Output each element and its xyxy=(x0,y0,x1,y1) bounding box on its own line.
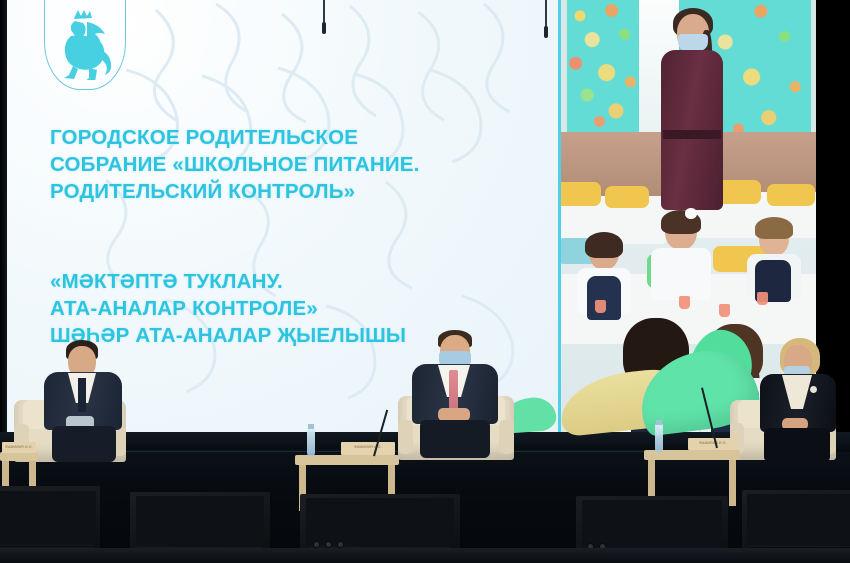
headline-russian: ГОРОДСКОЕ РОДИТЕЛЬСКОЕ СОБРАНИЕ «ШКОЛЬНО… xyxy=(50,124,530,205)
canteen-chair xyxy=(558,182,601,206)
name-card-left-text: ФАМИЛИЯ И.О. xyxy=(2,442,36,450)
juice-cup xyxy=(719,304,730,317)
canteen-supervisor xyxy=(657,8,727,238)
name-card-center-text: ФАМИЛИЯ И.О. xyxy=(341,442,395,450)
monitor-face xyxy=(136,496,265,546)
panelist-right-skirt xyxy=(764,428,830,462)
headline-ru-line-2: СОБРАНИЕ «ШКОЛЬНОЕ ПИТАНИЕ. xyxy=(50,151,530,178)
monitor-face xyxy=(747,494,850,545)
panelist-left xyxy=(38,340,126,462)
hanging-mic-capsule xyxy=(322,22,326,34)
panelist-left-tie-visible xyxy=(78,378,86,412)
juice-cup xyxy=(679,296,690,309)
monitor-knob[interactable] xyxy=(326,542,331,547)
juice-cup xyxy=(595,300,606,313)
water-bottle-center xyxy=(307,428,315,456)
panelist-right-lapel-pin xyxy=(810,386,817,393)
monitor-face xyxy=(306,498,453,546)
monitor-knob[interactable] xyxy=(314,542,319,547)
headline-tt-line-2: АТА-АНАЛАР КОНТРОЛЕ» xyxy=(50,295,540,322)
pupil-hair xyxy=(585,232,623,258)
kazan-coat-of-arms-icon xyxy=(44,0,126,90)
panelist-center-legs xyxy=(420,420,490,458)
bottle-cap xyxy=(656,420,662,425)
side-table-left xyxy=(0,452,38,461)
bottle-cap xyxy=(308,424,314,429)
monitor-face xyxy=(0,491,96,545)
pupil-hair xyxy=(755,217,793,239)
table-leg xyxy=(729,460,736,506)
panelist-left-legs xyxy=(52,426,116,462)
zilant-dragon-icon xyxy=(53,8,117,80)
panelist-center xyxy=(404,330,504,458)
headline-ru-line-3: РОДИТЕЛЬСКИЙ КОНТРОЛЬ» xyxy=(50,178,530,205)
canteen-chair xyxy=(605,186,649,208)
stage-front-rail xyxy=(0,548,850,563)
supervisor-belt xyxy=(663,130,721,139)
name-card-left: ФАМИЛИЯ И.О. xyxy=(2,442,36,453)
water-bottle-right xyxy=(655,424,663,452)
monitor-face xyxy=(582,500,722,547)
monitor-knob[interactable] xyxy=(338,542,343,547)
name-card-center: ФАМИЛИЯ И.О. xyxy=(341,442,395,455)
wall-mural-left xyxy=(567,0,639,132)
juice-cup xyxy=(757,292,768,305)
pupil-vest xyxy=(587,276,621,320)
stage-scene: ГОРОДСКОЕ РОДИТЕЛЬСКОЕ СОБРАНИЕ «ШКОЛЬНО… xyxy=(0,0,850,563)
side-table-center xyxy=(295,455,399,465)
canteen-chair xyxy=(767,184,815,206)
supervisor-face-mask xyxy=(678,34,708,51)
headline-ru-line-1: ГОРОДСКОЕ РОДИТЕЛЬСКОЕ xyxy=(50,124,530,151)
headline-tt-line-1: «МӘКТӘПТӘ ТУКЛАНУ. xyxy=(50,268,540,295)
pupil-hair-tie xyxy=(685,208,697,219)
pupil-shirt xyxy=(651,248,711,300)
hanging-mic-capsule xyxy=(544,26,548,38)
panelist-right xyxy=(756,338,842,462)
